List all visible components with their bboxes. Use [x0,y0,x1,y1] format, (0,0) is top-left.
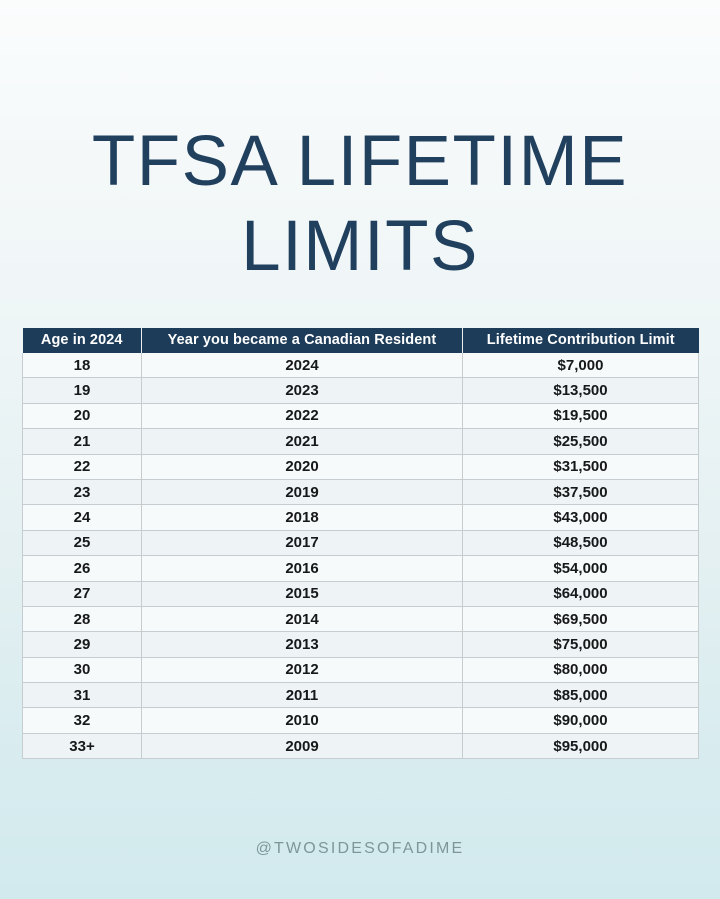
cell-year: 2014 [142,606,463,631]
cell-age: 30 [23,657,142,682]
cell-age: 33+ [23,733,142,758]
table-row: 182024$7,000 [23,353,699,378]
cell-year: 2010 [142,708,463,733]
tfsa-limits-table-container: Age in 2024 Year you became a Canadian R… [22,328,698,759]
cell-limit: $43,000 [463,505,699,530]
cell-age: 20 [23,403,142,428]
cell-limit: $64,000 [463,581,699,606]
cell-limit: $54,000 [463,556,699,581]
table-row: 232019$37,500 [23,479,699,504]
table-row: 292013$75,000 [23,632,699,657]
cell-age: 26 [23,556,142,581]
table-row: 302012$80,000 [23,657,699,682]
table-row: 312011$85,000 [23,683,699,708]
cell-age: 29 [23,632,142,657]
cell-year: 2023 [142,378,463,403]
poster-canvas: TFSA LIFETIME LIMITS Age in 2024 Year yo… [0,0,720,899]
cell-year: 2019 [142,479,463,504]
column-header-age: Age in 2024 [23,328,142,353]
cell-limit: $13,500 [463,378,699,403]
cell-year: 2015 [142,581,463,606]
table-row: 262016$54,000 [23,556,699,581]
cell-age: 31 [23,683,142,708]
table-row: 192023$13,500 [23,378,699,403]
page-title-line-2: LIMITS [0,211,720,282]
cell-age: 27 [23,581,142,606]
cell-age: 21 [23,429,142,454]
cell-year: 2022 [142,403,463,428]
cell-age: 28 [23,606,142,631]
table-header-row: Age in 2024 Year you became a Canadian R… [23,328,699,353]
cell-limit: $31,500 [463,454,699,479]
table-row: 33+2009$95,000 [23,733,699,758]
table-row: 252017$48,500 [23,530,699,555]
cell-age: 32 [23,708,142,733]
cell-limit: $80,000 [463,657,699,682]
cell-age: 24 [23,505,142,530]
cell-year: 2012 [142,657,463,682]
page-title: TFSA LIFETIME LIMITS [0,126,720,282]
table-row: 202022$19,500 [23,403,699,428]
column-header-lifetime-limit: Lifetime Contribution Limit [463,328,699,353]
cell-limit: $19,500 [463,403,699,428]
table-row: 272015$64,000 [23,581,699,606]
cell-age: 18 [23,353,142,378]
cell-limit: $85,000 [463,683,699,708]
cell-age: 19 [23,378,142,403]
cell-age: 25 [23,530,142,555]
cell-limit: $37,500 [463,479,699,504]
cell-age: 23 [23,479,142,504]
cell-limit: $69,500 [463,606,699,631]
cell-year: 2020 [142,454,463,479]
table-body: 182024$7,000192023$13,500202022$19,50021… [23,353,699,759]
column-header-residency-year: Year you became a Canadian Resident [142,328,463,353]
cell-limit: $25,500 [463,429,699,454]
cell-limit: $7,000 [463,353,699,378]
table-row: 242018$43,000 [23,505,699,530]
cell-year: 2013 [142,632,463,657]
tfsa-limits-table: Age in 2024 Year you became a Canadian R… [22,328,699,759]
cell-limit: $48,500 [463,530,699,555]
cell-year: 2009 [142,733,463,758]
cell-limit: $90,000 [463,708,699,733]
social-handle: @TWOSIDESOFADIME [0,840,720,858]
cell-year: 2024 [142,353,463,378]
cell-year: 2011 [142,683,463,708]
page-title-line-1: TFSA LIFETIME [0,126,720,197]
cell-year: 2017 [142,530,463,555]
cell-year: 2021 [142,429,463,454]
table-header: Age in 2024 Year you became a Canadian R… [23,328,699,353]
table-row: 322010$90,000 [23,708,699,733]
cell-limit: $95,000 [463,733,699,758]
table-row: 222020$31,500 [23,454,699,479]
table-row: 212021$25,500 [23,429,699,454]
cell-year: 2018 [142,505,463,530]
cell-year: 2016 [142,556,463,581]
cell-limit: $75,000 [463,632,699,657]
cell-age: 22 [23,454,142,479]
table-row: 282014$69,500 [23,606,699,631]
